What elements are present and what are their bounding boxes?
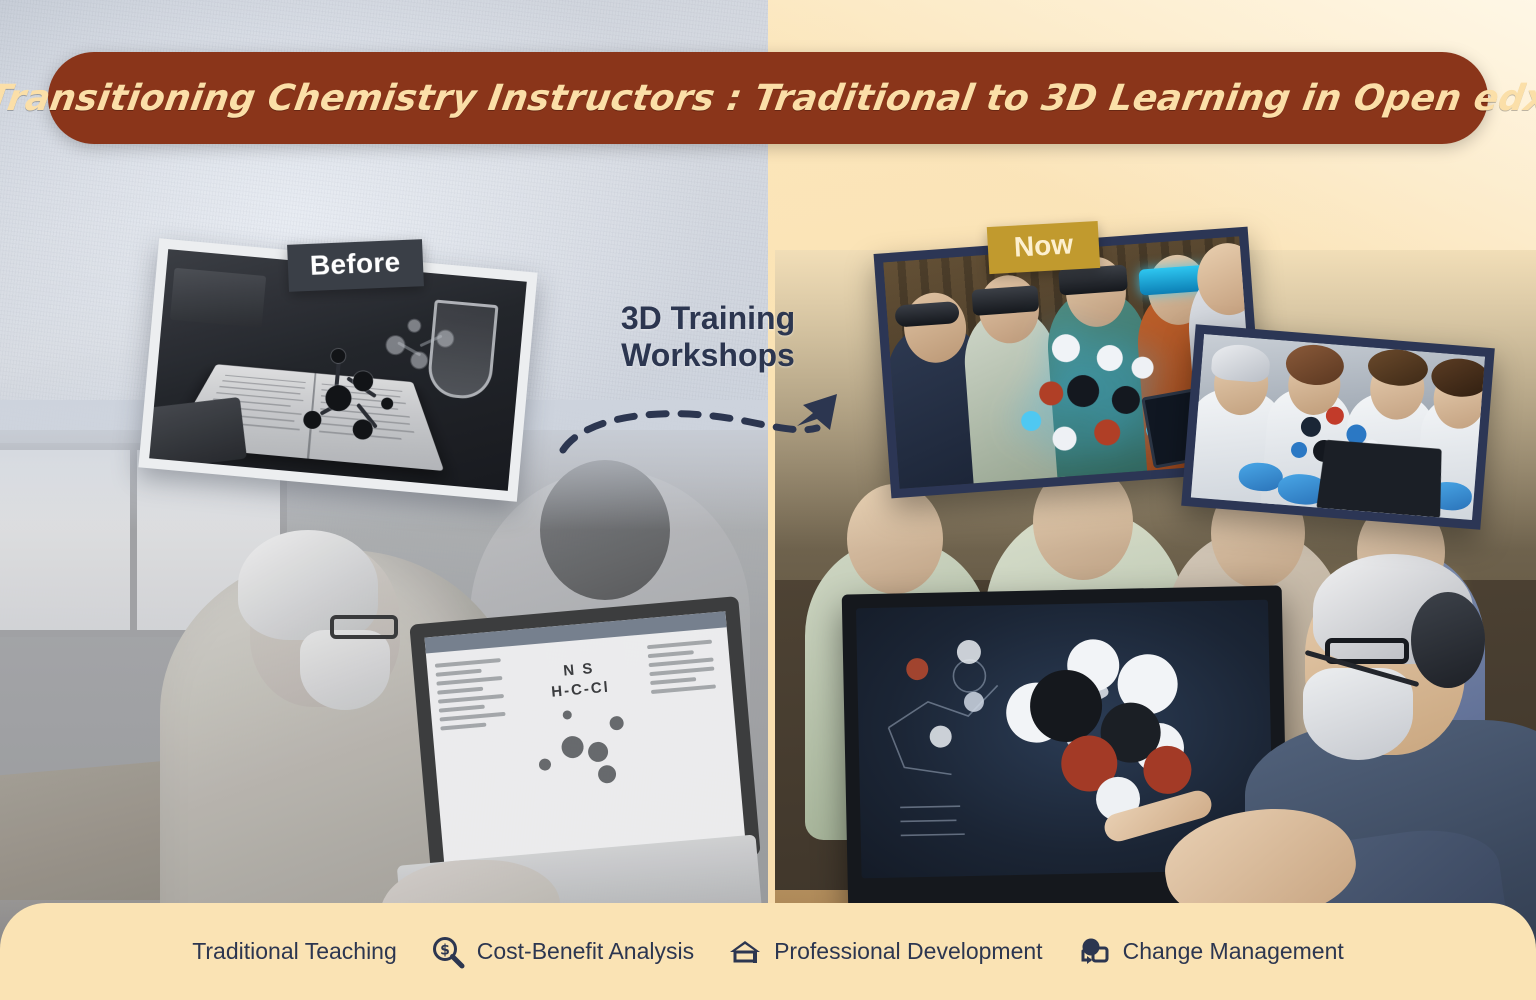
before-photo-calculator: [149, 397, 247, 470]
before-tag: Before: [287, 239, 423, 292]
footer-bar: Traditional Teaching $ Cost-Benefit Anal…: [0, 903, 1536, 1000]
caption-line-1: 3D Training: [588, 300, 828, 337]
svg-text:$: $: [440, 942, 450, 958]
now-photo-laptop: [1316, 440, 1441, 518]
footer-label-traditional-teaching: Traditional Teaching: [192, 938, 397, 965]
left-scene-molecule-diagram: [522, 701, 649, 791]
footer-label-change-management: Change Management: [1123, 938, 1344, 965]
page-title: Transitioning Chemistry Instructors : Tr…: [0, 78, 1536, 119]
footer-label-cost-benefit-analysis: Cost-Benefit Analysis: [477, 938, 694, 965]
left-scene-laptop-col-right: [644, 634, 739, 842]
magnifier-dollar-icon: $: [431, 935, 465, 969]
footer-item-change-management[interactable]: Change Management: [1077, 935, 1344, 969]
now-photo-card-lab: [1181, 324, 1495, 529]
center-caption: 3D Training Workshops: [588, 300, 828, 374]
footer-label-professional-development: Professional Development: [774, 938, 1042, 965]
transition-arrow-icon: [545, 378, 865, 468]
left-scene-formula-top: N S: [563, 659, 596, 682]
left-scene-formula-bottom: H-C-Cl: [551, 678, 611, 703]
before-photo-books: [170, 268, 266, 328]
left-scene-laptop-col-middle: N S H-C-Cl: [515, 641, 656, 853]
caption-line-2: Workshops: [588, 337, 828, 374]
house-icon: [728, 935, 762, 969]
footer-item-traditional-teaching[interactable]: Traditional Teaching: [192, 938, 397, 965]
left-scene-instructor-glasses: [330, 615, 398, 639]
change-swap-icon: [1077, 935, 1111, 969]
infographic-canvas: N S H-C-Cl: [0, 0, 1536, 1000]
footer-item-professional-development[interactable]: Professional Development: [728, 935, 1042, 969]
footer-item-cost-benefit-analysis[interactable]: $ Cost-Benefit Analysis: [431, 935, 694, 969]
left-scene-laptop-page: N S H-C-Cl: [424, 611, 745, 866]
title-banner: Transitioning Chemistry Instructors : Tr…: [48, 52, 1488, 144]
now-photo-lab-image: [1191, 334, 1485, 520]
now-tag: Now: [987, 221, 1101, 274]
left-scene-laptop-col-left: [432, 652, 527, 860]
left-scene-instructor-beard: [300, 630, 390, 710]
before-photo-flask: [426, 299, 498, 400]
